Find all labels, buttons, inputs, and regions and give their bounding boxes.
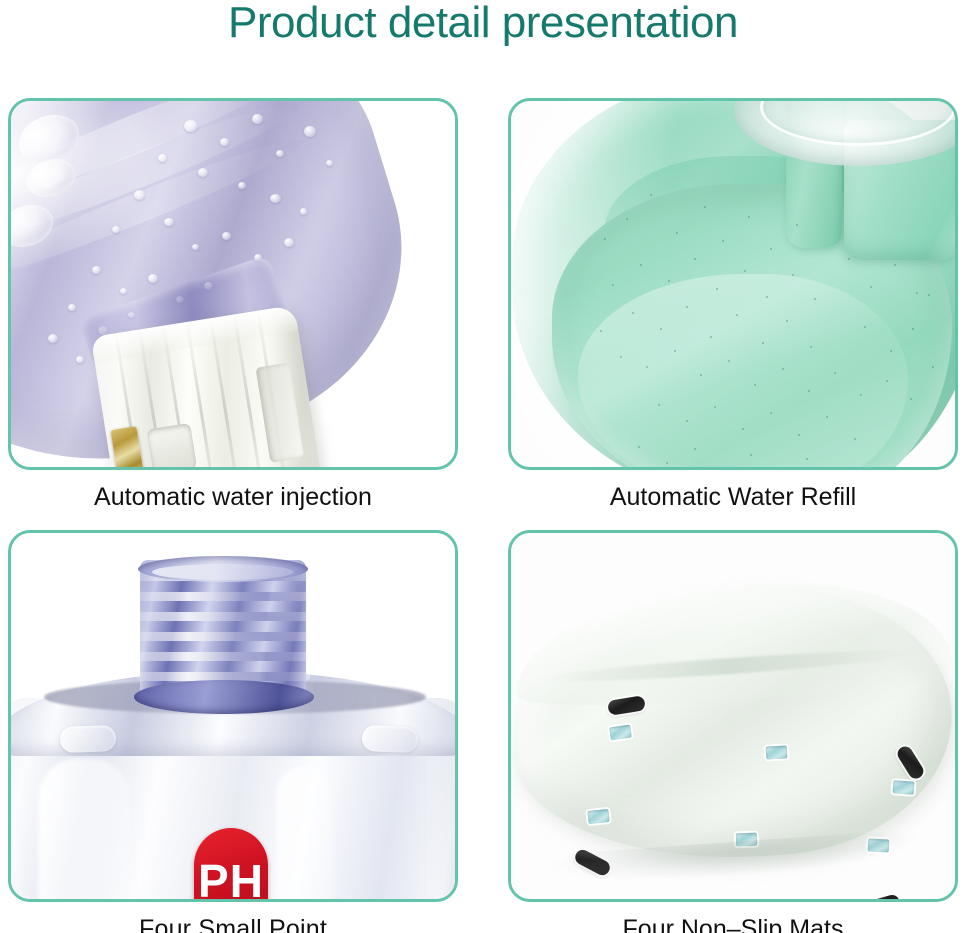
panel-caption-four-small-point: Four Small Point xyxy=(8,914,458,933)
drop-shadow xyxy=(87,467,339,470)
speckle-dot xyxy=(742,428,744,430)
image-panel-four-non-slip-mats[interactable] xyxy=(508,530,958,902)
speckle-dot xyxy=(750,454,752,456)
speckle-dot xyxy=(886,380,888,382)
panel-cell-automatic-water-injection: Automatic water injection xyxy=(8,98,458,512)
product-detail-page: Product detail presentation xyxy=(0,0,966,933)
image-panel-four-small-point[interactable]: PH xyxy=(8,530,458,902)
vent-insert xyxy=(766,745,788,759)
water-droplet xyxy=(220,138,229,146)
speckle-dot xyxy=(910,398,912,400)
speckle-dot xyxy=(666,462,668,464)
product-photo-automatic-water-refill xyxy=(508,98,958,470)
water-droplet xyxy=(120,288,127,294)
speckle-dot xyxy=(806,458,808,460)
speckle-dot xyxy=(668,280,670,282)
water-droplet xyxy=(300,208,307,215)
image-panel-automatic-water-injection[interactable] xyxy=(8,98,458,470)
basin-inner-sheen xyxy=(578,274,908,470)
speckle-dot xyxy=(770,248,772,250)
product-photo-four-small-point: PH xyxy=(8,530,458,902)
water-droplet xyxy=(134,190,145,200)
speckle-dot xyxy=(626,218,628,220)
speckle-dot xyxy=(782,368,784,370)
panel-caption-four-non-slip-mats: Four Non–Slip Mats xyxy=(508,914,958,933)
bottle-highlight xyxy=(38,758,130,902)
speckle-dot xyxy=(686,306,688,308)
water-droplet xyxy=(326,160,333,166)
speckle-dot xyxy=(604,238,606,240)
speckle-dot xyxy=(694,448,696,450)
water-droplet xyxy=(252,114,263,124)
speckle-dot xyxy=(714,406,716,408)
speckle-dot xyxy=(834,372,836,374)
water-droplet xyxy=(158,154,167,162)
water-droplet xyxy=(148,274,158,283)
speckle-dot xyxy=(650,194,652,196)
speckle-dot xyxy=(792,274,794,276)
speckle-dot xyxy=(916,292,918,294)
water-droplet xyxy=(164,218,174,226)
water-droplet xyxy=(222,232,231,240)
water-droplet xyxy=(184,120,198,132)
cap-valve-opening-shape xyxy=(147,423,198,470)
water-droplet xyxy=(92,266,101,274)
product-photo-four-non-slip-mats xyxy=(508,530,958,902)
water-droplet xyxy=(112,226,120,233)
image-panel-automatic-water-refill[interactable] xyxy=(508,98,958,470)
speckle-dot xyxy=(766,296,768,298)
bottle-neck-lip xyxy=(152,564,294,580)
speckle-dot xyxy=(928,294,930,296)
bottle-neck-base-ring xyxy=(134,680,314,714)
speckle-dot xyxy=(808,390,810,392)
speckle-dot xyxy=(660,328,662,330)
panel-grid: Automatic water injection Automatic xyxy=(8,98,958,933)
speckle-dot xyxy=(728,360,730,362)
speckle-dot xyxy=(600,330,602,332)
panel-cell-automatic-water-refill: Automatic Water Refill xyxy=(508,98,958,512)
speckle-dot xyxy=(754,384,756,386)
speckle-dot xyxy=(748,216,750,218)
speckle-dot xyxy=(686,420,688,422)
speckle-dot xyxy=(786,320,788,322)
speckle-dot xyxy=(796,224,798,226)
speckle-dot xyxy=(716,288,718,290)
speckle-dot xyxy=(810,346,812,348)
speckle-dot xyxy=(658,404,660,406)
panel-cell-four-non-slip-mats: Four Non–Slip Mats xyxy=(508,530,958,933)
speckle-dot xyxy=(676,232,678,234)
speckle-dot xyxy=(932,366,934,368)
water-droplet xyxy=(76,356,84,363)
bottle-grip-recess xyxy=(60,725,117,753)
speckle-dot xyxy=(632,312,634,314)
ph-label-text: PH xyxy=(194,858,268,902)
bottle-highlight xyxy=(276,766,334,902)
water-droplet xyxy=(304,126,316,137)
neck-thread xyxy=(136,652,310,661)
neck-thread xyxy=(136,592,310,601)
speckle-dot xyxy=(638,446,640,448)
speckle-dot xyxy=(674,350,676,352)
ph-label-badge: PH xyxy=(194,828,268,902)
vent-insert xyxy=(587,809,609,824)
speckle-dot xyxy=(612,284,614,286)
water-droplet xyxy=(198,168,208,177)
product-photo-automatic-water-injection xyxy=(8,98,458,470)
speckle-dot xyxy=(736,314,738,316)
water-droplet xyxy=(68,304,76,311)
non-slip-pad xyxy=(862,893,902,902)
neck-thread xyxy=(136,612,310,621)
speckle-dot xyxy=(848,258,850,260)
panel-cell-four-small-point: PH Four Small Point xyxy=(8,530,458,933)
speckle-dot xyxy=(894,264,896,266)
panel-caption-automatic-water-refill: Automatic Water Refill xyxy=(508,482,958,512)
neck-thread xyxy=(136,632,310,641)
speckle-dot xyxy=(722,240,724,242)
vent-insert xyxy=(893,780,915,794)
water-droplet xyxy=(238,182,246,189)
speckle-dot xyxy=(860,394,862,396)
speckle-dot xyxy=(710,336,712,338)
panel-caption-automatic-water-injection: Automatic water injection xyxy=(8,482,458,512)
water-droplet xyxy=(284,238,294,247)
speckle-dot xyxy=(620,356,622,358)
speckle-dot xyxy=(890,350,892,352)
water-droplet xyxy=(192,244,199,250)
page-title: Product detail presentation xyxy=(0,0,966,50)
speckle-dot xyxy=(694,258,696,260)
water-droplet xyxy=(276,150,284,157)
speckle-dot xyxy=(912,328,914,330)
water-droplet xyxy=(270,194,281,203)
speckle-dot xyxy=(870,286,872,288)
speckle-dot xyxy=(854,438,856,440)
speckle-dot xyxy=(770,412,772,414)
speckle-dot xyxy=(640,264,642,266)
speckle-dot xyxy=(762,342,764,344)
speckle-dot xyxy=(700,374,702,376)
speckle-dot xyxy=(814,298,816,300)
cap-notch-shape xyxy=(256,363,305,463)
speckle-dot xyxy=(826,416,828,418)
bottle-grip-recess xyxy=(362,725,419,753)
water-droplet xyxy=(48,334,58,343)
speckle-dot xyxy=(864,326,866,328)
speckle-dot xyxy=(744,270,746,272)
speckle-dot xyxy=(704,206,706,208)
speckle-dot xyxy=(798,434,800,436)
speckle-dot xyxy=(646,366,648,368)
